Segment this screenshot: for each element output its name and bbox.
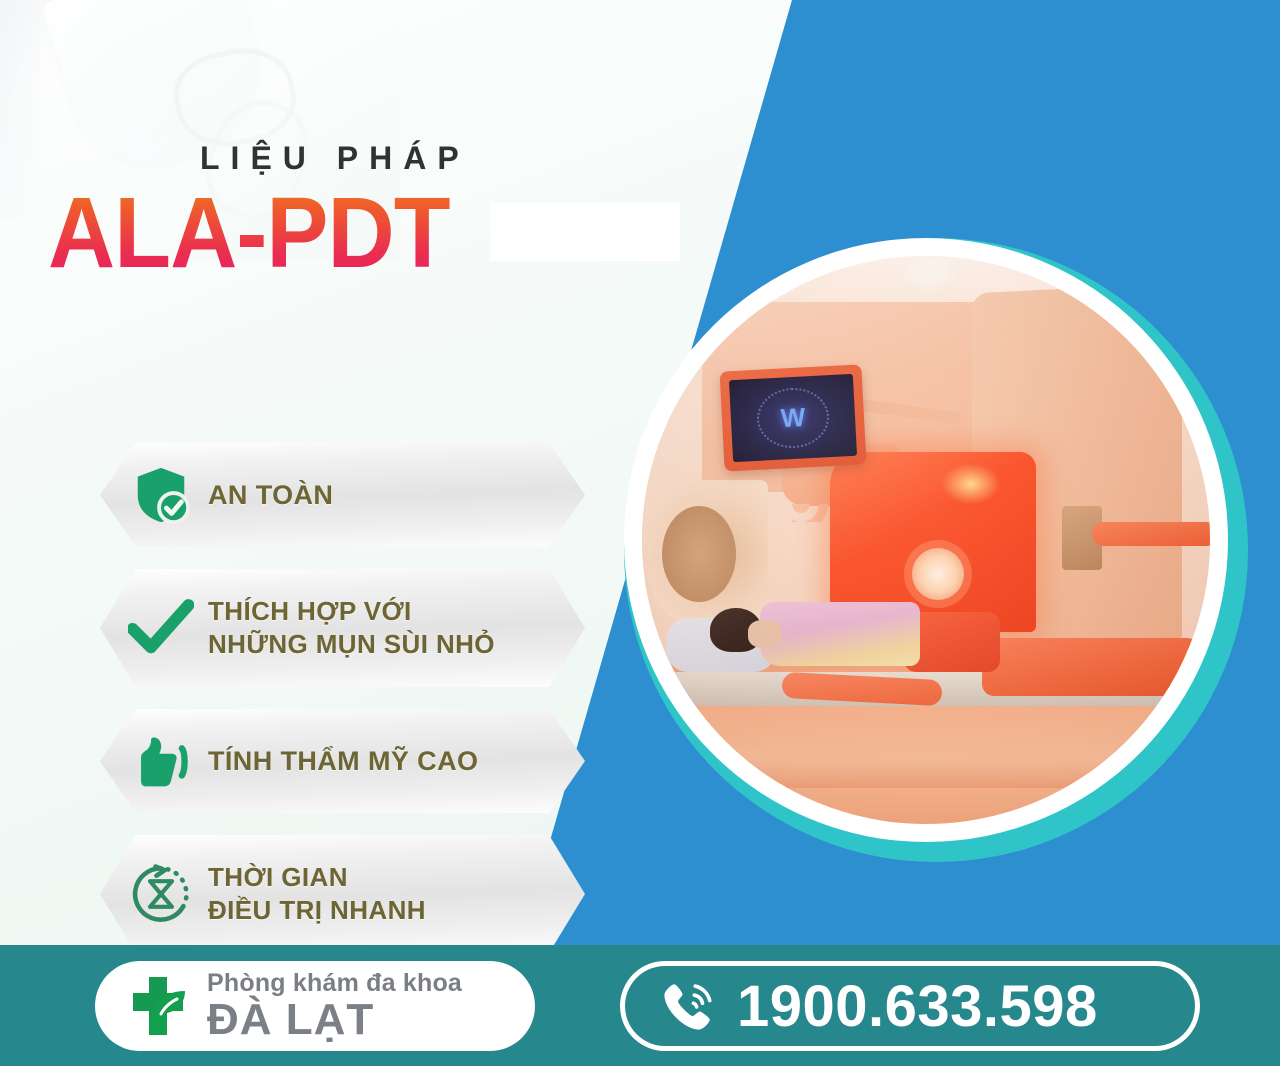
feature-row-4: THỜI GIAN ĐIỀU TRỊ NHANH [100,835,590,953]
feature-label: THỜI GIAN ĐIỀU TRỊ NHANH [208,861,426,928]
feature-badge-thoi-gian[interactable]: THỜI GIAN ĐIỀU TRỊ NHANH [100,835,585,953]
feature-line-2: ĐIỀU TRỊ NHANH [208,894,426,927]
phone-pill[interactable]: 1900.633.598 [620,961,1200,1051]
hourglass-clock-icon [100,835,208,953]
thumbs-up-icon [100,709,208,813]
clinic-kicker: Phòng khám đa khoa [207,971,462,996]
headline-kicker: LIỆU PHÁP [200,140,688,177]
photo-content: W [642,256,1210,824]
clinic-brand-pill[interactable]: Phòng khám đa khoa ĐÀ LẠT [95,961,535,1051]
treatment-room-scene: W [642,256,1210,824]
clinic-name: ĐÀ LẠT [207,998,462,1042]
check-mark-icon [100,569,208,687]
headline-brand-row: ALA-PDT [48,181,688,287]
feature-badge-thich-hop[interactable]: THÍCH HỢP VỚI NHỮNG MỤN SÙI NHỎ [100,569,585,687]
headline-block: LIỆU PHÁP ALA-PDT [48,140,688,287]
feature-line-2: NHỮNG MỤN SÙI NHỎ [208,628,495,661]
feature-list: AN TOÀN THÍCH HỢP VỚI NHỮNG MỤN SÙI NHỎ [100,443,590,975]
feature-row-3: TÍNH THẨM MỸ CAO [100,709,590,813]
shield-check-icon [100,443,208,547]
feature-badge-tham-my[interactable]: TÍNH THẨM MỸ CAO [100,709,585,813]
feature-line-1: TÍNH THẨM MỸ CAO [208,744,478,779]
phone-call-icon [659,977,717,1035]
feature-row-1: AN TOÀN [100,443,590,547]
clinic-text-block: Phòng khám đa khoa ĐÀ LẠT [207,971,462,1042]
phone-number: 1900.633.598 [737,973,1098,1040]
green-cross-leaf-logo [121,969,195,1043]
feature-label: THÍCH HỢP VỚI NHỮNG MỤN SÙI NHỎ [208,595,495,662]
feature-line-1: THÍCH HỢP VỚI [208,595,495,628]
feature-badge-an-toan[interactable]: AN TOÀN [100,443,585,547]
feature-label: TÍNH THẨM MỸ CAO [208,744,478,779]
headline-brand: ALA-PDT [48,181,450,285]
feature-row-2: THÍCH HỢP VỚI NHỮNG MỤN SÙI NHỎ [100,569,590,687]
treatment-photo-circle: W [624,238,1248,862]
poster-canvas: LIỆU PHÁP ALA-PDT [0,0,1280,1066]
feature-line-1: AN TOÀN [208,478,333,513]
feature-label: AN TOÀN [208,478,333,513]
feature-line-1: THỜI GIAN [208,861,426,894]
footer-bar: Phòng khám đa khoa ĐÀ LẠT 1900.633.598 [0,945,1280,1066]
photo-tone-overlay [642,256,1210,824]
